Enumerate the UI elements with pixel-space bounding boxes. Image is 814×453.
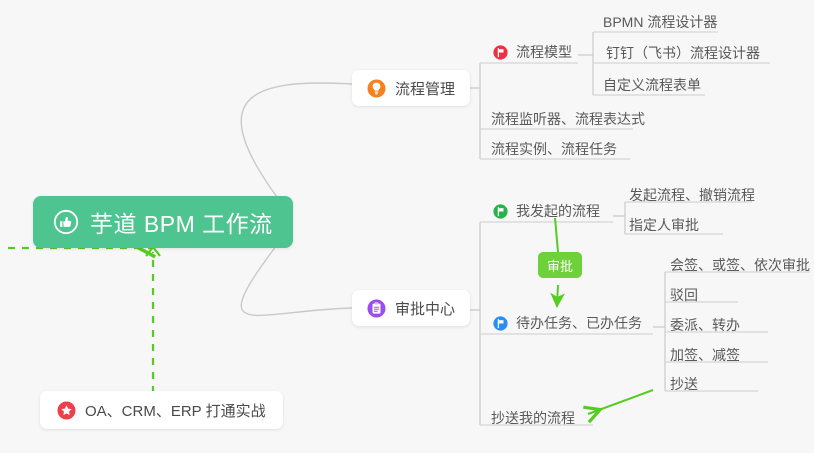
node-label-listener-expression: 流程监听器、流程表达式 <box>491 108 645 130</box>
node-label-assignee-approval: 指定人审批 <box>629 214 699 236</box>
branch-card-process-management[interactable]: 流程管理 <box>352 70 470 106</box>
node-process-model[interactable]: 流程模型 <box>493 41 572 63</box>
node-cc-to-me[interactable]: 抄送我的流程 <box>491 407 575 429</box>
node-cc[interactable]: 抄送 <box>670 373 698 395</box>
callout-chip-approval: 审批 <box>538 252 582 278</box>
lightbulb-icon <box>367 79 386 98</box>
node-label-process-model: 流程模型 <box>516 41 572 63</box>
node-my-initiated[interactable]: 我发起的流程 <box>493 200 600 222</box>
node-label-bpmn-designer: BPMN 流程设计器 <box>603 11 717 33</box>
mindmap-canvas: 芋道 BPM 工作流 OA、CRM、ERP 打通实战 流程管理 <box>0 0 814 453</box>
root-node[interactable]: 芋道 BPM 工作流 <box>33 196 293 248</box>
floating-note-card[interactable]: OA、CRM、ERP 打通实战 <box>40 391 283 429</box>
node-bpmn-designer[interactable]: BPMN 流程设计器 <box>603 11 717 33</box>
star-icon <box>57 401 76 420</box>
node-countersign[interactable]: 会签、或签、依次审批 <box>670 254 810 276</box>
floating-note-label: OA、CRM、ERP 打通实战 <box>85 400 266 421</box>
node-label-todo-done: 待办任务、已办任务 <box>516 312 642 334</box>
node-label-countersign: 会签、或签、依次审批 <box>670 254 810 276</box>
node-instance-task[interactable]: 流程实例、流程任务 <box>491 138 617 160</box>
thumbs-up-icon <box>53 209 79 235</box>
node-label-start-cancel: 发起流程、撤销流程 <box>629 184 755 206</box>
branch-card-approval-center[interactable]: 审批中心 <box>352 290 470 326</box>
node-label-add-remove-sign: 加签、减签 <box>670 344 740 366</box>
node-dingtalk-feishu-designer[interactable]: 钉钉（飞书）流程设计器 <box>606 42 760 64</box>
node-custom-process-form[interactable]: 自定义流程表单 <box>603 74 701 96</box>
node-add-remove-sign[interactable]: 加签、减签 <box>670 344 740 366</box>
node-listener-expression[interactable]: 流程监听器、流程表达式 <box>491 108 645 130</box>
node-label-cc: 抄送 <box>670 373 698 395</box>
branch-label-approval-center: 审批中心 <box>395 298 455 319</box>
flag-icon <box>493 45 508 60</box>
clipboard-icon <box>367 299 386 318</box>
node-label-cc-to-me: 抄送我的流程 <box>491 407 575 429</box>
node-label-delegate-transfer: 委派、转办 <box>670 314 740 336</box>
node-todo-done[interactable]: 待办任务、已办任务 <box>493 312 642 334</box>
node-label-instance-task: 流程实例、流程任务 <box>491 138 617 160</box>
branch-label-process-management: 流程管理 <box>395 78 455 99</box>
node-reject[interactable]: 驳回 <box>670 284 698 306</box>
node-assignee-approval[interactable]: 指定人审批 <box>629 214 699 236</box>
node-label-custom-process-form: 自定义流程表单 <box>603 74 701 96</box>
callout-chip-label: 审批 <box>547 256 573 275</box>
node-label-reject: 驳回 <box>670 284 698 306</box>
node-start-cancel[interactable]: 发起流程、撤销流程 <box>629 184 755 206</box>
node-label-my-initiated: 我发起的流程 <box>516 200 600 222</box>
node-delegate-transfer[interactable]: 委派、转办 <box>670 314 740 336</box>
root-node-label: 芋道 BPM 工作流 <box>90 205 273 239</box>
node-label-dingtalk-feishu-designer: 钉钉（飞书）流程设计器 <box>606 42 760 64</box>
flag-icon <box>493 204 508 219</box>
flag-icon <box>493 316 508 331</box>
